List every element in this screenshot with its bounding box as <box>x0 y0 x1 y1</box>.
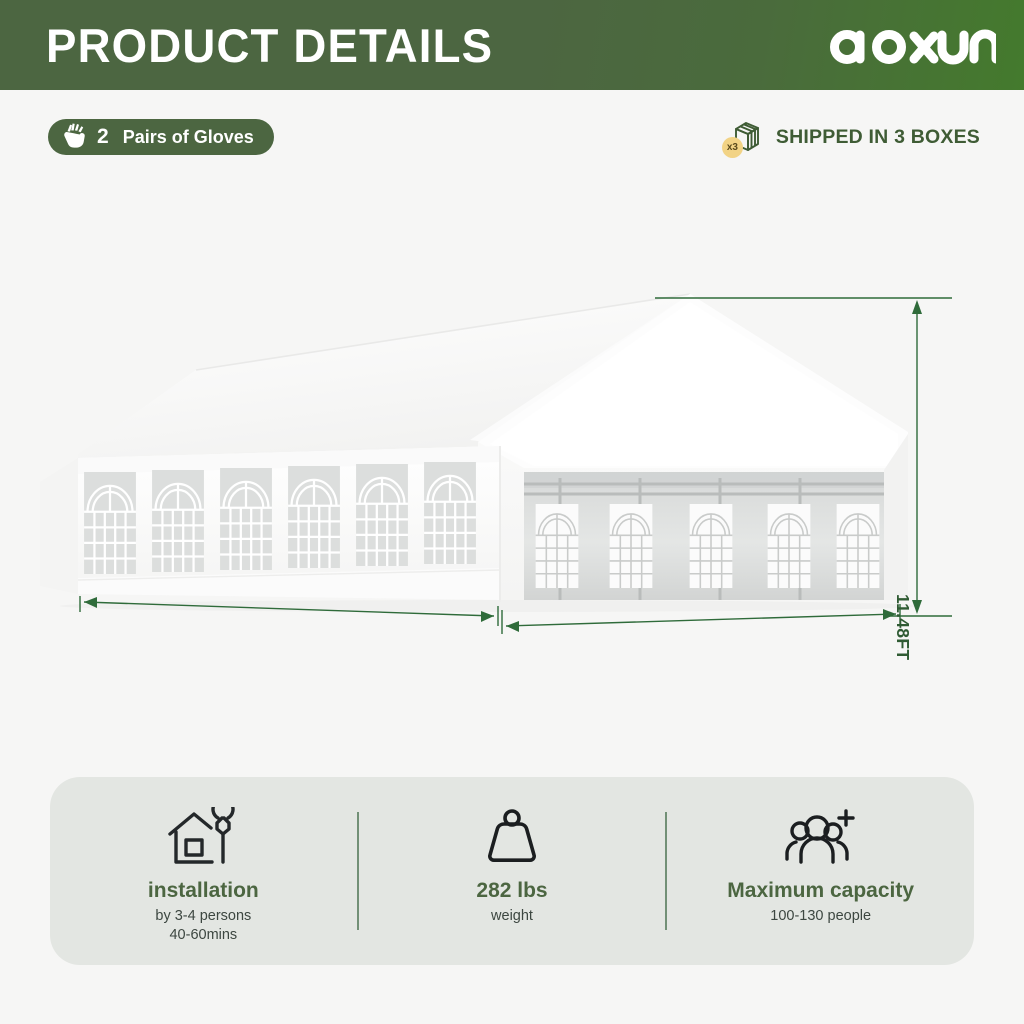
gloves-count: 2 <box>97 125 109 149</box>
dimension-height-label: 11.48FT <box>892 594 913 660</box>
feature-weight-sub1: weight <box>491 907 533 926</box>
feature-capacity-sub1: 100-130 people <box>770 907 871 926</box>
feature-installation-title: installation <box>148 879 259 903</box>
gloves-icon <box>61 122 88 153</box>
feature-installation-sub2: 40-60mins <box>169 926 237 945</box>
weight-icon <box>481 807 543 869</box>
shipping-label: SHIPPED IN 3 BOXES <box>776 126 980 149</box>
brand-logo <box>826 22 996 68</box>
feature-panel: installation by 3-4 persons 40-60mins 28… <box>50 777 974 965</box>
house-wrench-icon <box>166 807 240 869</box>
feature-weight-title: 282 lbs <box>476 879 547 903</box>
badge-row: 2 Pairs of Gloves x3 SHIPPED IN 3 BOXES <box>0 90 1024 182</box>
page-header: PRODUCT DETAILS <box>0 0 1024 90</box>
feature-capacity-title: Maximum capacity <box>727 879 914 903</box>
people-plus-icon <box>779 807 863 869</box>
box-icon: x3 <box>724 117 766 157</box>
gloves-badge: 2 Pairs of Gloves <box>48 119 274 155</box>
shipping-badge: x3 SHIPPED IN 3 BOXES <box>724 119 980 155</box>
gloves-label: Pairs of Gloves <box>123 127 254 148</box>
feature-installation-sub1: by 3-4 persons <box>155 907 251 926</box>
page-title: PRODUCT DETAILS <box>46 22 493 69</box>
feature-installation: installation by 3-4 persons 40-60mins <box>50 777 357 965</box>
page-root: PRODUCT DETAILS <box>0 0 1024 1024</box>
feature-weight: 282 lbs weight <box>359 777 666 965</box>
box-count-chip: x3 <box>722 137 743 158</box>
feature-capacity: Maximum capacity 100-130 people <box>667 777 974 965</box>
product-diagram: 40FT 20FT 11.48FT <box>0 182 1024 752</box>
